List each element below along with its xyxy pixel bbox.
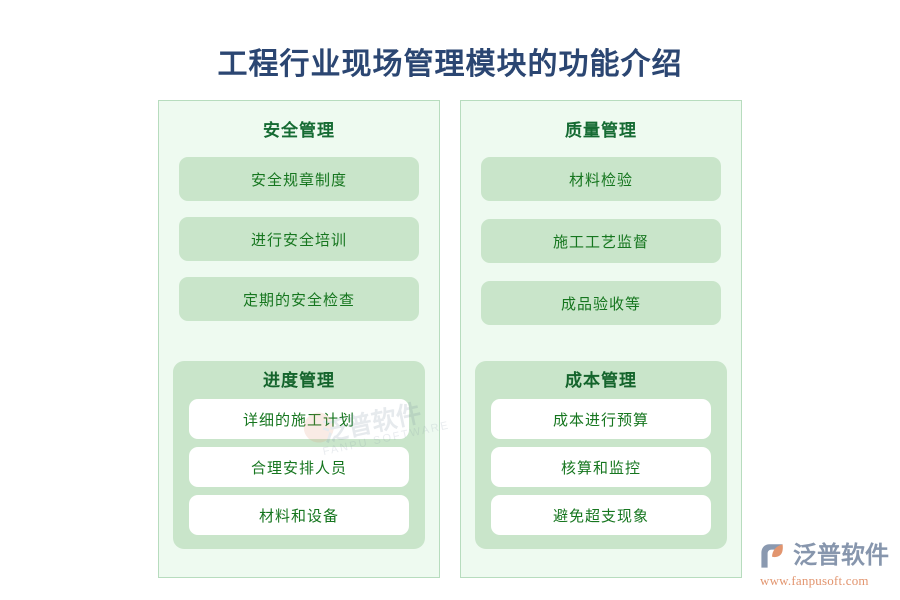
pill-item[interactable]: 进行安全培训	[179, 217, 419, 261]
panel-body-safety: 安全规章制度 进行安全培训 定期的安全检查	[159, 157, 439, 321]
subgroup-progress-management: 进度管理 详细的施工计划 合理安排人员 材料和设备	[173, 361, 425, 549]
brand-logo: 泛普软件 www.fanpusoft.com	[760, 540, 892, 592]
panel-safety-management: 安全管理 安全规章制度 进行安全培训 定期的安全检查 进度管理 详细的施工计划 …	[158, 100, 440, 578]
subgroup-title-progress: 进度管理	[189, 371, 409, 391]
panel-header-safety: 安全管理	[159, 121, 439, 141]
page-title: 工程行业现场管理模块的功能介绍	[0, 46, 900, 84]
brand-url: www.fanpusoft.com	[760, 573, 892, 589]
subgroup-item[interactable]: 成本进行预算	[491, 399, 711, 439]
subgroup-item[interactable]: 核算和监控	[491, 447, 711, 487]
pill-item[interactable]: 成品验收等	[481, 281, 721, 325]
pill-item[interactable]: 定期的安全检查	[179, 277, 419, 321]
panel-body-quality: 材料检验 施工工艺监督 成品验收等	[461, 157, 741, 325]
subgroup-item[interactable]: 材料和设备	[189, 495, 409, 535]
subgroup-title-cost: 成本管理	[491, 371, 711, 391]
brand-name: 泛普软件	[793, 541, 889, 571]
subgroup-item[interactable]: 合理安排人员	[189, 447, 409, 487]
slide-canvas: 工程行业现场管理模块的功能介绍 安全管理 安全规章制度 进行安全培训 定期的安全…	[0, 0, 900, 600]
pill-item[interactable]: 材料检验	[481, 157, 721, 201]
subgroup-item[interactable]: 详细的施工计划	[189, 399, 409, 439]
pill-item[interactable]: 安全规章制度	[179, 157, 419, 201]
brand-logo-row: 泛普软件	[760, 540, 892, 572]
fanpu-swoosh-icon	[760, 541, 790, 571]
subgroup-cost-management: 成本管理 成本进行预算 核算和监控 避免超支现象	[475, 361, 727, 549]
panel-header-quality: 质量管理	[461, 121, 741, 141]
panel-quality-management: 质量管理 材料检验 施工工艺监督 成品验收等 成本管理 成本进行预算 核算和监控…	[460, 100, 742, 578]
subgroup-item[interactable]: 避免超支现象	[491, 495, 711, 535]
pill-item[interactable]: 施工工艺监督	[481, 219, 721, 263]
columns-container: 安全管理 安全规章制度 进行安全培训 定期的安全检查 进度管理 详细的施工计划 …	[158, 100, 742, 578]
